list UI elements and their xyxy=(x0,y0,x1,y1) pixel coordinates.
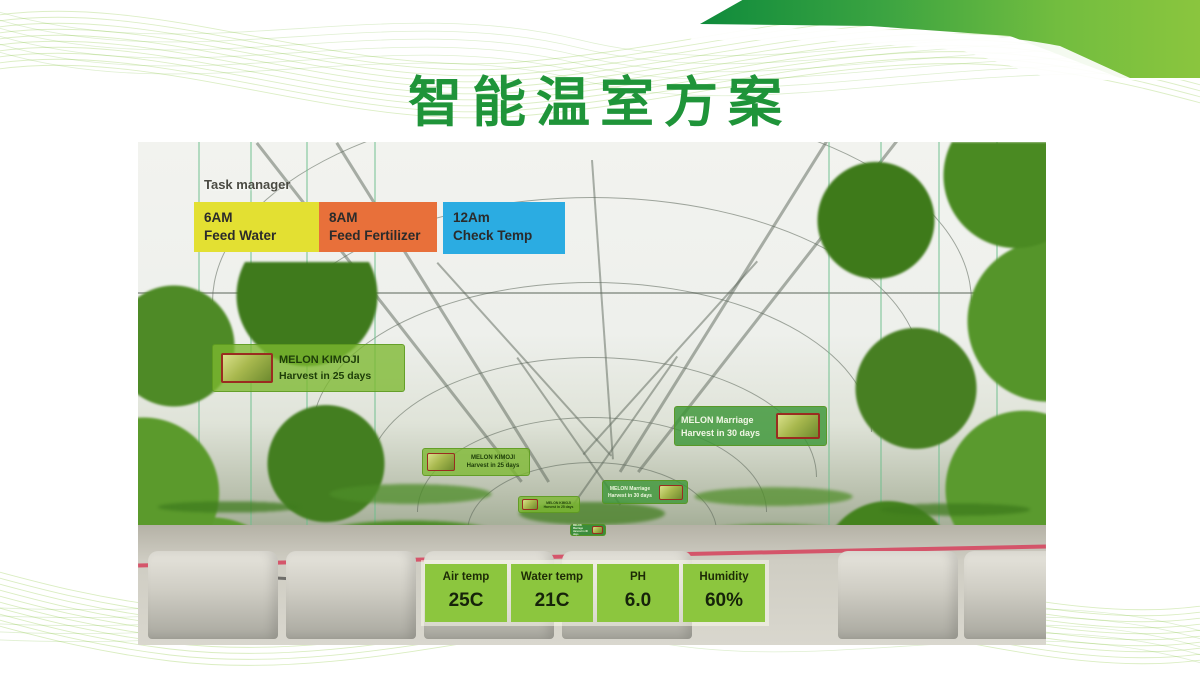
sensor-label: PH xyxy=(630,571,646,583)
sensor-readout-bar: Air temp 25C Water temp 21C PH 6.0 Humid… xyxy=(421,560,769,626)
melon-thumbnail xyxy=(592,526,603,534)
page-title: 智能温室方案 xyxy=(0,58,1200,137)
grow-bag xyxy=(148,551,278,639)
sensor-card-air-temp[interactable]: Air temp 25C xyxy=(425,564,507,622)
sensor-card-water-temp[interactable]: Water temp 21C xyxy=(511,564,593,622)
melon-harvest: Harvest in 30 days xyxy=(573,530,590,536)
task-action: Check Temp xyxy=(453,227,555,245)
melon-thumbnail xyxy=(221,353,273,383)
task-time: 6AM xyxy=(204,209,309,227)
melon-thumbnail xyxy=(427,453,455,471)
task-card-feed-fertilizer[interactable]: 8AM Feed Fertilizer xyxy=(319,202,437,252)
task-card-feed-water[interactable]: 6AM Feed Water xyxy=(194,202,319,252)
melon-harvest: Harvest in 25 days xyxy=(467,463,520,469)
melon-harvest: Harvest in 25 days xyxy=(544,505,574,509)
melon-tag-kimoji-large[interactable]: MELON KIMOJI Harvest in 25 days xyxy=(212,344,405,392)
sensor-card-humidity[interactable]: Humidity 60% xyxy=(683,564,765,622)
sensor-label: Humidity xyxy=(699,571,748,583)
melon-tag-kimoji-medium[interactable]: MELON KIMOJI Harvest in 25 days xyxy=(422,448,530,476)
sensor-card-ph[interactable]: PH 6.0 xyxy=(597,564,679,622)
task-action: Feed Water xyxy=(204,227,309,245)
melon-name: MELON KIMOJI xyxy=(279,354,371,366)
sensor-label: Air temp xyxy=(443,571,490,583)
task-card-check-temp[interactable]: 12Am Check Temp xyxy=(443,202,565,254)
melon-thumbnail xyxy=(659,485,683,500)
greenhouse-photo: Task manager 6AM Feed Water 8AM Feed Fer… xyxy=(138,142,1046,645)
task-action: Feed Fertilizer xyxy=(329,227,427,245)
melon-harvest: Harvest in 30 days xyxy=(608,493,652,499)
melon-tag-marriage-small[interactable]: MELON Marriage Harvest in 30 days xyxy=(570,524,606,536)
melon-tag-marriage-large[interactable]: MELON Marriage Harvest in 30 days xyxy=(674,406,827,446)
melon-name: MELON Marriage xyxy=(610,486,650,492)
grow-bag xyxy=(286,551,416,639)
melon-name: MELON KIMOJI xyxy=(471,455,515,461)
grow-bag xyxy=(838,551,958,639)
melon-tag-marriage-medium[interactable]: MELON Marriage Harvest in 30 days xyxy=(602,480,688,504)
melon-thumbnail xyxy=(776,413,820,439)
sensor-value: 21C xyxy=(535,590,570,612)
melon-tag-kimoji-small[interactable]: MELON KIMOJI Harvest in 25 days xyxy=(518,496,580,513)
melon-harvest: Harvest in 30 days xyxy=(681,428,770,438)
melon-name: MELON Marriage xyxy=(681,415,770,425)
melon-thumbnail xyxy=(522,499,538,510)
task-time: 8AM xyxy=(329,209,427,227)
melon-harvest: Harvest in 25 days xyxy=(279,370,371,382)
sensor-value: 6.0 xyxy=(625,590,651,612)
sensor-value: 25C xyxy=(449,590,484,612)
sensor-label: Water temp xyxy=(521,571,583,583)
task-manager-label: Task manager xyxy=(204,177,290,192)
task-manager-strip: 6AM Feed Water 8AM Feed Fertilizer 12Am … xyxy=(194,202,565,254)
sensor-value: 60% xyxy=(705,590,743,612)
grow-bag xyxy=(964,551,1046,639)
task-time: 12Am xyxy=(453,209,555,227)
